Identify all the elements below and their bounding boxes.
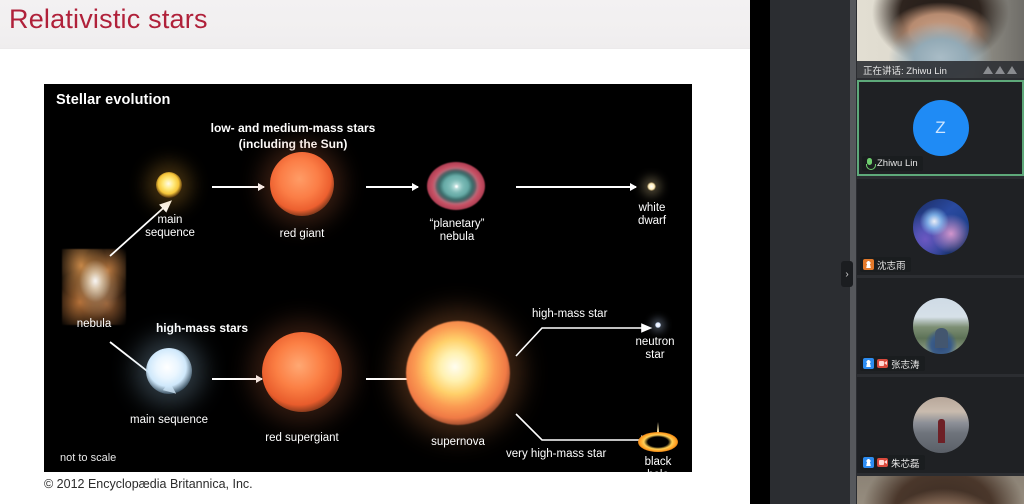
supernova-image xyxy=(406,321,510,425)
participant-icon xyxy=(863,457,874,468)
avatar xyxy=(913,298,969,354)
sound-wave-icon xyxy=(983,66,1017,74)
participant-tile[interactable]: Z Zhiwu Lin xyxy=(857,80,1024,176)
chevron-right-icon[interactable]: › xyxy=(841,261,853,287)
screen-letterbox-strip xyxy=(750,0,770,504)
star-main-sequence-high xyxy=(146,348,192,394)
participant-icon xyxy=(863,259,874,270)
arrow-red-giant-to-planetary-nebula xyxy=(366,186,418,188)
label-not-to-scale: not to scale xyxy=(60,452,116,464)
label-main-sequence-high: main sequence xyxy=(121,414,217,427)
label-red-giant: red giant xyxy=(262,228,342,241)
participant-name-badge: 朱芯磊 xyxy=(860,455,925,470)
speaking-status-bar: 正在讲话: Zhiwu Lin xyxy=(857,61,1024,78)
panel-drag-divider[interactable] xyxy=(850,0,856,504)
participant-tile[interactable]: 张志涛 xyxy=(857,278,1024,374)
participant-tile[interactable]: 正在讲话: Zhiwu Lin xyxy=(857,0,1024,78)
label-white-dwarf: white dwarf xyxy=(616,202,688,228)
arrow-planetary-nebula-to-white-dwarf xyxy=(516,186,636,188)
label-main-sequence-low: main sequence xyxy=(124,214,216,240)
star-red-giant xyxy=(270,152,334,216)
label-planetary-nebula: “planetary” nebula xyxy=(412,218,502,244)
participant-name: 张志涛 xyxy=(891,357,920,371)
speaking-status-label: 正在讲话: Zhiwu Lin xyxy=(863,63,947,77)
participant-tile-strip: 正在讲话: Zhiwu Lin Z Zhiwu Lin 沈志雨 xyxy=(857,0,1024,504)
participant-tile[interactable]: 沈志雨 xyxy=(857,179,1024,275)
shared-slide: Relativistic stars Stellar evolution low… xyxy=(0,0,750,504)
label-path-high-mass-star: high-mass star xyxy=(532,308,682,321)
participant-name: 沈志雨 xyxy=(877,258,906,272)
participant-name-badge: 张志涛 xyxy=(860,356,925,371)
black-hole-core xyxy=(649,437,667,445)
participant-video-feed xyxy=(857,476,1024,504)
video-off-icon xyxy=(877,359,888,368)
participant-icon xyxy=(863,358,874,369)
participant-name: 朱芯磊 xyxy=(891,456,920,470)
label-nebula: nebula xyxy=(52,318,136,331)
copyright-text: © 2012 Encyclopædia Britannica, Inc. xyxy=(44,477,253,491)
arrow-main-sequence-to-red-giant xyxy=(212,186,264,188)
video-off-icon xyxy=(877,458,888,467)
black-hole-image xyxy=(638,427,678,453)
avatar xyxy=(913,397,969,453)
avatar: Z xyxy=(913,100,969,156)
label-low-mass-branch-line1: low- and medium-mass stars xyxy=(128,122,458,135)
label-neutron-star: neutron star xyxy=(616,336,692,362)
arrow-high-main-sequence-to-supergiant xyxy=(212,378,262,380)
participant-tile[interactable]: 朱芯磊 xyxy=(857,377,1024,473)
participant-name: Zhiwu Lin xyxy=(877,158,918,169)
label-low-mass-branch-line2: (including the Sun) xyxy=(128,138,458,151)
participant-name-badge: 沈志雨 xyxy=(860,257,911,272)
star-neutron xyxy=(655,322,661,328)
stellar-evolution-diagram: Stellar evolution low- and medium-mass s… xyxy=(44,84,692,472)
star-red-supergiant xyxy=(262,332,342,412)
label-red-supergiant: red supergiant xyxy=(256,432,348,445)
label-black-hole: black hole xyxy=(622,456,692,472)
avatar xyxy=(913,199,969,255)
participant-tile[interactable] xyxy=(857,476,1024,504)
planetary-nebula-image xyxy=(427,162,485,210)
star-white-dwarf xyxy=(647,182,656,191)
label-supernova: supernova xyxy=(412,436,504,449)
star-main-sequence-low xyxy=(156,172,182,198)
screen-root: Relativistic stars Stellar evolution low… xyxy=(0,0,1024,504)
participant-name-badge: Zhiwu Lin xyxy=(862,156,923,171)
diagram-title: Stellar evolution xyxy=(56,92,171,108)
page-title: Relativistic stars xyxy=(9,4,208,35)
microphone-icon xyxy=(865,158,874,169)
